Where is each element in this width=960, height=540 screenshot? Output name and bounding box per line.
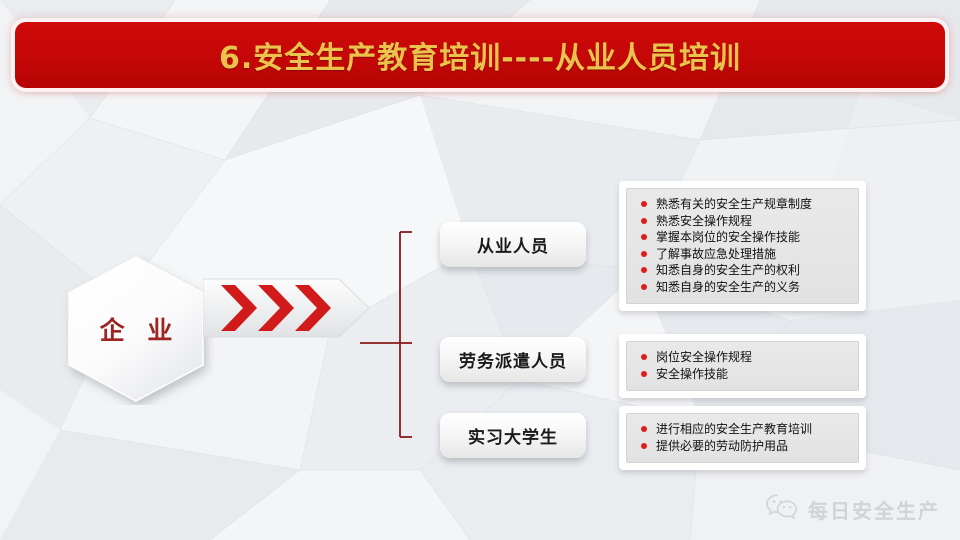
watermark-text: 每日安全生产 [808,495,940,524]
bullet-text: 知悉自身的安全生产的义务 [656,279,800,296]
bracket-connector [360,222,412,447]
list-item: 安全操作技能 [635,366,850,383]
list-item: 掌握本岗位的安全操作技能 [635,229,850,246]
slide-canvas: 6.安全生产教育培训----从业人员培训 企 业 [0,0,960,540]
title-banner: 6.安全生产教育培训----从业人员培训 [15,22,945,88]
list-item: 岗位安全操作规程 [635,349,850,366]
bullet-text: 了解事故应急处理措施 [656,246,776,263]
wechat-icon [765,493,799,526]
bullet-text: 掌握本岗位的安全操作技能 [656,229,800,246]
bullet-dot-icon [641,201,647,207]
enterprise-hexagon[interactable]: 企 业 [58,253,214,405]
list-item: 提供必要的劳动防护用品 [635,438,850,455]
bullet-dot-icon [641,443,647,449]
chevron-arrow-banner [203,276,371,340]
bullet-dot-icon [641,426,647,432]
list-item: 知悉自身的安全生产的义务 [635,279,850,296]
bullet-text: 知悉自身的安全生产的权利 [656,262,800,279]
bullet-list-1: 岗位安全操作规程 安全操作技能 [635,349,850,382]
watermark: 每日安全生产 [765,493,940,526]
bullet-panel-inner-2: 进行相应的安全生产教育培训 提供必要的劳动防护用品 [626,413,859,463]
list-item: 熟悉安全操作规程 [635,213,850,230]
bullet-list-0: 熟悉有关的安全生产规章制度 熟悉安全操作规程 掌握本岗位的安全操作技能 了解事故… [635,196,850,295]
bullet-dot-icon [641,267,647,273]
bullet-text: 安全操作技能 [656,366,728,383]
category-box-0[interactable]: 从业人员 [440,222,586,267]
bullet-dot-icon [641,234,647,240]
bullet-dot-icon [641,218,647,224]
bullet-panel-inner-1: 岗位安全操作规程 安全操作技能 [626,341,859,391]
list-item: 知悉自身的安全生产的权利 [635,262,850,279]
category-box-2[interactable]: 实习大学生 [440,413,586,458]
bullet-text: 进行相应的安全生产教育培训 [656,421,812,438]
category-label-2: 实习大学生 [468,423,558,448]
bullet-panel-0: 熟悉有关的安全生产规章制度 熟悉安全操作规程 掌握本岗位的安全操作技能 了解事故… [619,181,866,311]
bullet-text: 熟悉有关的安全生产规章制度 [656,196,812,213]
bullet-dot-icon [641,284,647,290]
bullet-dot-icon [641,251,647,257]
bullet-list-2: 进行相应的安全生产教育培训 提供必要的劳动防护用品 [635,421,850,454]
page-title: 6.安全生产教育培训----从业人员培训 [219,33,741,77]
list-item: 熟悉有关的安全生产规章制度 [635,196,850,213]
bullet-text: 岗位安全操作规程 [656,349,752,366]
category-label-0: 从业人员 [477,232,549,257]
category-box-1[interactable]: 劳务派遣人员 [440,337,586,382]
list-item: 进行相应的安全生产教育培训 [635,421,850,438]
bullet-panel-2: 进行相应的安全生产教育培训 提供必要的劳动防护用品 [619,406,866,470]
bullet-text: 熟悉安全操作规程 [656,213,752,230]
bullet-dot-icon [641,354,647,360]
bullet-text: 提供必要的劳动防护用品 [656,438,788,455]
bullet-dot-icon [641,371,647,377]
category-label-1: 劳务派遣人员 [459,347,567,372]
list-item: 了解事故应急处理措施 [635,246,850,263]
bullet-panel-inner-0: 熟悉有关的安全生产规章制度 熟悉安全操作规程 掌握本岗位的安全操作技能 了解事故… [626,188,859,304]
bullet-panel-1: 岗位安全操作规程 安全操作技能 [619,334,866,398]
